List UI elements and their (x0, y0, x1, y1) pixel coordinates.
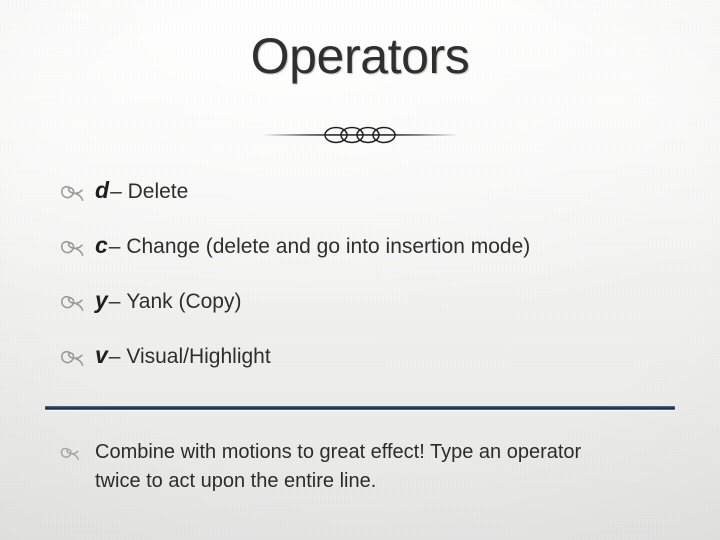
page-title: Operators (0, 27, 720, 85)
floral-heart-ornament-bullet-icon (60, 174, 95, 202)
operator-dash: – (110, 180, 122, 203)
floral-heart-ornament-bullet-icon (60, 339, 95, 367)
operator-key: y (95, 287, 109, 313)
operator-key: v (95, 342, 109, 368)
floral-heart-ornament-bullet-icon (60, 229, 95, 257)
list-item-text: d– Delete (95, 174, 188, 207)
operator-description: Delete (128, 180, 189, 203)
ornamental-divider (0, 120, 720, 150)
list-item: d– Delete (60, 174, 700, 229)
operator-description: Visual/Highlight (126, 345, 270, 368)
list-item: y– Yank (Copy) (60, 284, 700, 339)
flourish-divider-icon (260, 122, 460, 148)
list-item-text: y– Yank (Copy) (95, 284, 241, 317)
operator-description: Change (delete and go into insertion mod… (126, 235, 530, 258)
list-item: v– Visual/Highlight (60, 339, 700, 394)
floral-heart-ornament-bullet-icon (60, 284, 95, 312)
operator-description: Yank (Copy) (126, 290, 241, 313)
list-item-text: c– Change (delete and go into insertion … (95, 229, 530, 262)
operator-dash: – (109, 290, 121, 313)
operator-dash: – (109, 345, 121, 368)
list-item-text: v– Visual/Highlight (95, 339, 271, 372)
operator-key: c (95, 232, 109, 258)
slide-content: Operators (0, 0, 720, 540)
operators-list: d– Delete c– Change (delete and go into … (60, 174, 700, 394)
footer-note: Combine with motions to great effect! Ty… (60, 438, 660, 496)
presentation-slide: Operators (0, 0, 720, 540)
floral-heart-ornament-bullet-icon (60, 438, 95, 461)
operator-key: d (95, 177, 110, 203)
footer-note-text: Combine with motions to great effect! Ty… (95, 438, 595, 496)
list-item: c– Change (delete and go into insertion … (60, 229, 700, 284)
section-divider-rule (45, 406, 675, 410)
operator-dash: – (109, 235, 121, 258)
